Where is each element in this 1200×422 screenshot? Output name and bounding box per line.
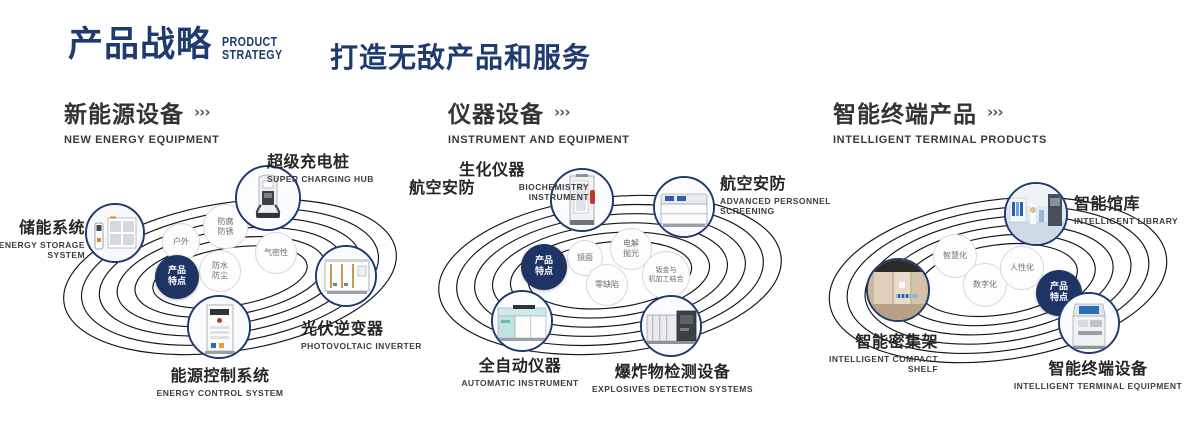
core-bubble-product-features: 产品 特点: [155, 255, 199, 299]
chevron-right-icon: ›››: [194, 103, 210, 121]
caption-compact-shelf: 智能密集架 INTELLIGENT COMPACT SHELF: [738, 328, 938, 374]
compact-shelf-photo-icon: [868, 260, 928, 320]
caption-biochemistry: 生化仪器 BIOCHEMISTRY INSTRUMENT: [459, 156, 589, 202]
feature-label: 智慧化: [943, 251, 967, 261]
caption-intelligent-library: 智能馆库 INTELLIGENT LIBRARY: [1074, 190, 1200, 226]
node-bubble-explosives-detection[interactable]: [640, 295, 702, 357]
feature-bubble: 气密性: [255, 232, 297, 274]
caption-terminal-equipment: 智能终端设备 INTELLIGENT TERMINAL EQUIPMENT: [998, 355, 1198, 391]
section-heading-cn-text: 新能源设备: [64, 95, 184, 129]
node-bubble-intelligent-library[interactable]: [1004, 182, 1068, 246]
feature-bubble: 零缺陷: [586, 264, 628, 306]
feature-label: 人性化: [1010, 263, 1034, 273]
caption-cn: 智能馆库: [1074, 190, 1200, 214]
page-title-cn: 产品战略: [68, 28, 212, 63]
section-heading-en: NEW ENERGY EQUIPMENT: [64, 134, 219, 146]
section-heading-intelligent: 智能终端产品 ››› INTELLIGENT TERMINAL PRODUCTS: [833, 95, 1047, 146]
caption-energy-storage: 储能系统 ENERGY STORAGE SYSTEM: [0, 214, 85, 260]
node-bubble-automatic-instrument[interactable]: [491, 290, 553, 352]
caption-en: EXPLOSIVES DETECTION SYSTEMS: [565, 384, 780, 394]
caption-en: BIOCHEMISTRY INSTRUMENT: [459, 182, 589, 202]
caption-cn: 超级充电桩: [267, 148, 427, 172]
core-label-line1: 产品: [1050, 282, 1068, 293]
caption-cn: 智能密集架: [738, 328, 938, 352]
feature-label: 防水 防尘: [212, 261, 228, 281]
page-slogan: 打造无敌产品和服务: [330, 36, 591, 76]
section-heading-new-energy: 新能源设备 ››› NEW ENERGY EQUIPMENT: [64, 95, 219, 146]
node-bubble-terminal-equipment[interactable]: [1058, 292, 1120, 354]
feature-label: 气密性: [264, 248, 288, 258]
chevron-right-icon: ›››: [987, 103, 1003, 121]
automatic-instrument-icon: [493, 292, 551, 350]
caption-en: ENERGY CONTROL SYSTEM: [95, 388, 345, 398]
diagram-intelligent-terminal: 智慧化 数字化 人性化 产品 特点: [818, 150, 1188, 400]
poster-canvas: 产品战略 PRODUCT STRATEGY 打造无敌产品和服务 新能源设备 ››…: [0, 0, 1200, 422]
core-bubble-product-features: 产品 特点: [521, 244, 567, 290]
control-cabinet-icon: [189, 297, 249, 357]
core-label-line2: 特点: [168, 277, 186, 288]
caption-en: ENERGY STORAGE SYSTEM: [0, 240, 85, 260]
terminal-kiosk-icon: [1060, 294, 1118, 352]
caption-cn: 智能终端设备: [998, 355, 1198, 379]
section-heading-en: INSTRUMENT AND EQUIPMENT: [448, 134, 629, 146]
diagram-new-energy: 户外 防腐 防锈 气密性 防水 防尘 产品 特点: [55, 150, 415, 400]
caption-en: INTELLIGENT LIBRARY: [1074, 216, 1200, 226]
feature-label: 数字化: [973, 280, 997, 290]
feature-label: 镜面: [577, 253, 593, 263]
feature-label: 户外: [173, 237, 189, 247]
core-label-line1: 产品: [168, 266, 186, 277]
caption-en: INTELLIGENT COMPACT SHELF: [738, 354, 938, 374]
feature-label: 钣金与 机加工结合: [649, 266, 684, 284]
page-title-en-line2: STRATEGY: [222, 48, 283, 61]
feature-label: 电解 抛光: [623, 239, 639, 259]
energy-storage-cabinet-icon: [87, 205, 143, 261]
caption-cn: 储能系统: [0, 214, 85, 238]
feature-label: 零缺陷: [595, 280, 619, 290]
explosives-detector-icon: [642, 297, 700, 355]
core-label-line2: 特点: [535, 267, 553, 278]
pv-inverter-icon: [317, 247, 375, 305]
caption-cn: 生化仪器: [459, 156, 589, 180]
screening-machine-icon: [655, 178, 713, 236]
section-heading-cn-text: 智能终端产品: [833, 95, 977, 129]
feature-label: 防腐 防锈: [218, 217, 234, 237]
node-bubble-compact-shelf[interactable]: [866, 258, 930, 322]
caption-en: INTELLIGENT TERMINAL EQUIPMENT: [998, 381, 1198, 391]
feature-bubble: 钣金与 机加工结合: [642, 251, 690, 299]
section-heading-cn-text: 仪器设备: [448, 95, 544, 129]
node-bubble-screening[interactable]: [653, 176, 715, 238]
node-bubble-energy-storage[interactable]: [85, 203, 145, 263]
page-title-en: PRODUCT STRATEGY: [222, 35, 283, 61]
caption-cn: 能源控制系统: [95, 362, 345, 386]
library-photo-icon: [1006, 184, 1066, 244]
feature-bubble: 防水 防尘: [199, 250, 241, 292]
caption-control-system: 能源控制系统 ENERGY CONTROL SYSTEM: [95, 362, 345, 398]
node-bubble-control-system[interactable]: [187, 295, 251, 359]
section-heading-cn: 仪器设备 ›››: [448, 95, 629, 129]
page-title: 产品战略 PRODUCT STRATEGY: [68, 28, 296, 63]
core-label-line1: 产品: [535, 256, 553, 267]
caption-charging-hub: 超级充电桩 SUPER CHARGING HUB: [267, 148, 427, 184]
chevron-right-icon: ›››: [554, 103, 570, 121]
section-heading-instrument: 仪器设备 ››› INSTRUMENT AND EQUIPMENT: [448, 95, 629, 146]
caption-en: SUPER CHARGING HUB: [267, 174, 427, 184]
section-heading-en: INTELLIGENT TERMINAL PRODUCTS: [833, 134, 1047, 146]
section-heading-cn: 新能源设备 ›››: [64, 95, 219, 129]
node-bubble-pv-inverter[interactable]: [315, 245, 377, 307]
section-heading-cn: 智能终端产品 ›››: [833, 95, 1047, 129]
